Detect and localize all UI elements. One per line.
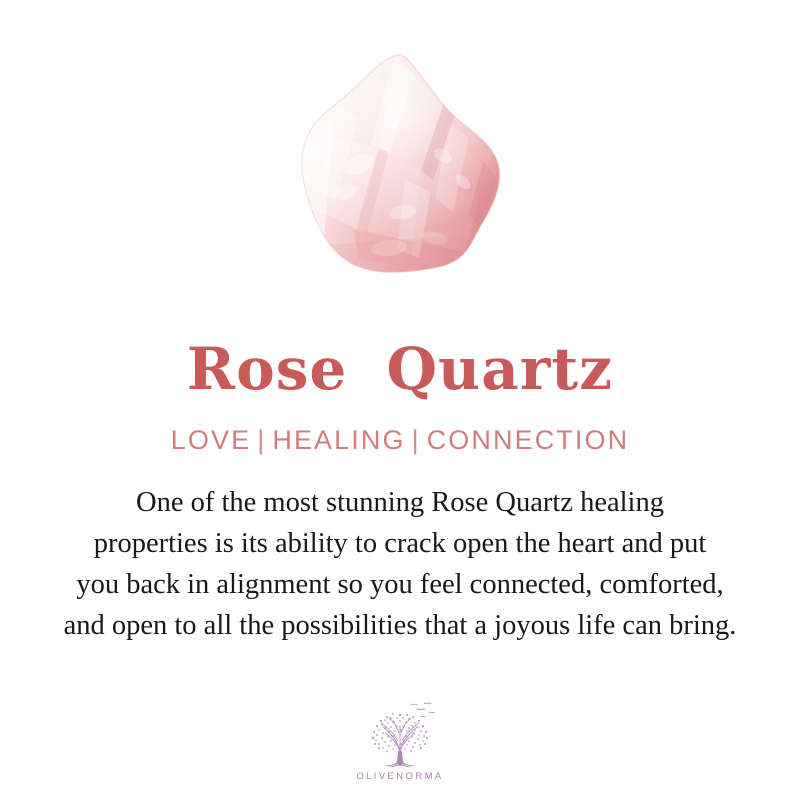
- rose-quartz-crystal-image: [293, 52, 515, 278]
- rose-quartz-crystal-icon: [293, 52, 515, 278]
- description-line-2: properties is its ability to crack open …: [20, 523, 780, 564]
- product-card: Rose Quartz LOVE|HEALING|CONNECTION One …: [0, 0, 800, 800]
- crystal-image-area: [0, 0, 800, 300]
- keyword-separator-2: |: [406, 425, 427, 455]
- page-title: Rose Quartz: [187, 300, 613, 400]
- brand-name: OLIVENORMA: [356, 771, 443, 782]
- keyword-love: LOVE: [171, 425, 251, 455]
- crystal-body: [293, 52, 515, 278]
- tree-of-life-icon: [357, 699, 443, 769]
- brand-logo: OLIVENORMA: [0, 699, 800, 782]
- keyword-separator-1: |: [251, 425, 272, 455]
- description-line-3: you back in alignment so you feel connec…: [20, 564, 780, 605]
- keyword-line: LOVE|HEALING|CONNECTION: [171, 400, 629, 456]
- description-text: One of the most stunning Rose Quartz hea…: [20, 456, 780, 646]
- keyword-healing: HEALING: [272, 425, 405, 455]
- description-line-1: One of the most stunning Rose Quartz hea…: [20, 482, 780, 523]
- description-line-4: and open to all the possibilities that a…: [20, 605, 780, 646]
- keyword-connection: CONNECTION: [427, 425, 630, 455]
